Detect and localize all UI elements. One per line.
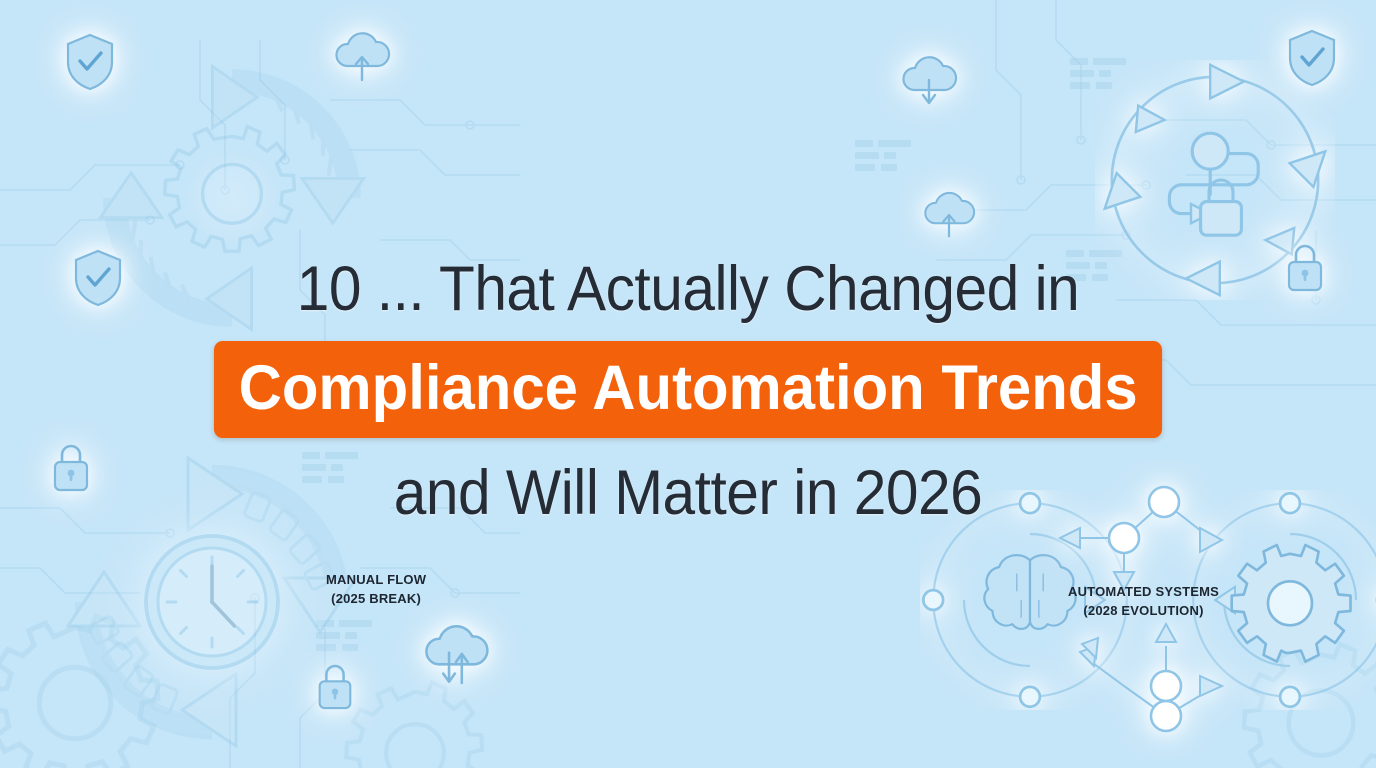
cloud-download-icon — [898, 52, 960, 108]
data-table-glyph — [1070, 58, 1126, 96]
hero-banner: 10 ... That Actually Changed in Complian… — [0, 0, 1376, 768]
headline-highlight-row: Compliance Automation Trends — [0, 341, 1376, 438]
cloud-upload-icon — [331, 28, 393, 84]
headline-line-3: and Will Matter in 2026 — [48, 462, 1328, 525]
automated-systems-caption: AUTOMATED SYSTEMS (2028 EVOLUTION) — [1068, 583, 1219, 621]
cloud-upload-icon — [920, 188, 978, 240]
automated-systems-subtitle: (2028 EVOLUTION) — [1068, 602, 1219, 621]
headline-line-1: 10 ... That Actually Changed in — [48, 258, 1328, 321]
padlock-icon — [313, 660, 357, 714]
automated-systems-title: AUTOMATED SYSTEMS — [1068, 583, 1219, 602]
cloud-sync-icon — [420, 622, 492, 688]
headline-highlight: Compliance Automation Trends — [214, 341, 1162, 438]
manual-flow-caption: MANUAL FLOW (2025 BREAK) — [326, 571, 426, 609]
data-table-glyph — [855, 140, 911, 178]
gear-icon — [0, 598, 180, 768]
shield-check-icon — [1286, 28, 1338, 88]
gear-icon — [1226, 628, 1376, 768]
hero-headline: 10 ... That Actually Changed in Complian… — [0, 258, 1376, 525]
data-table-glyph — [316, 620, 372, 658]
shield-check-icon — [64, 32, 116, 92]
manual-flow-title: MANUAL FLOW — [326, 571, 426, 590]
gear-icon — [330, 668, 500, 768]
manual-flow-subtitle: (2025 BREAK) — [326, 590, 426, 609]
